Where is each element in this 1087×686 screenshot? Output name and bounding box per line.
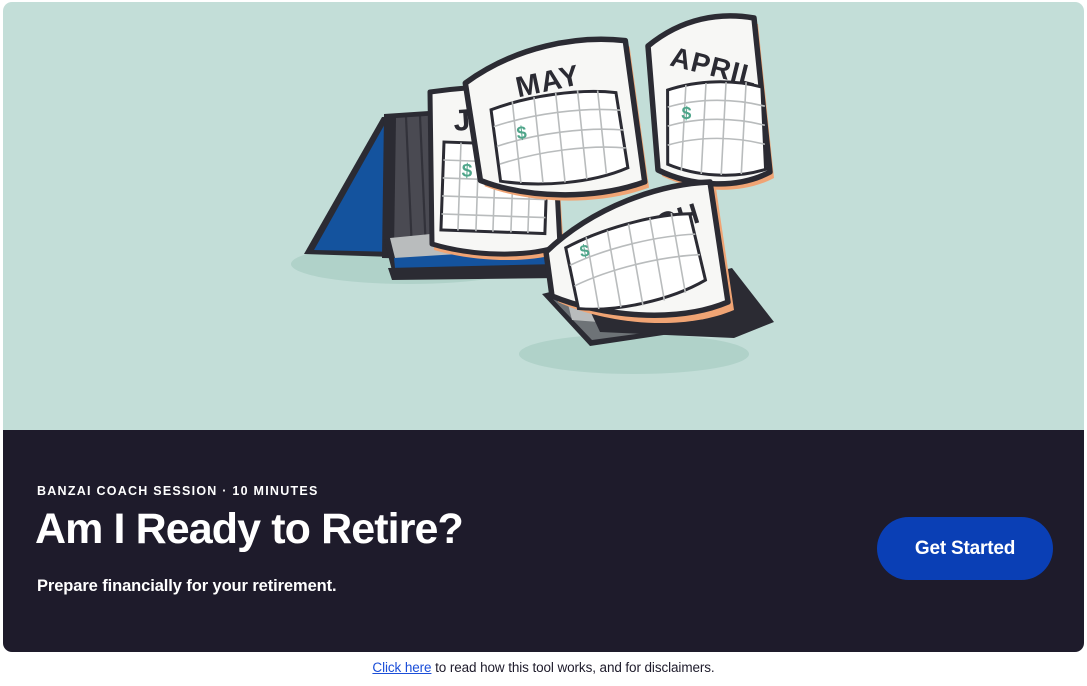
- svg-text:$: $: [515, 122, 527, 143]
- flying-calendar-pages-illustration: JUNE $: [234, 2, 854, 430]
- footer-disclaimer: Click here to read how this tool works, …: [0, 660, 1087, 675]
- disclaimer-text: to read how this tool works, and for dis…: [431, 660, 714, 675]
- tool-landing-page: JUNE $: [0, 0, 1087, 686]
- get-started-button[interactable]: Get Started: [877, 517, 1053, 580]
- session-eyebrow: BANZAI COACH SESSION · 10 MINUTES: [37, 484, 319, 498]
- calendar-march: MARCH $: [542, 182, 774, 346]
- svg-text:$: $: [680, 103, 691, 123]
- disclaimer-link[interactable]: Click here: [372, 660, 431, 675]
- calendar-may: MAY $: [463, 37, 649, 206]
- session-info-band: BANZAI COACH SESSION · 10 MINUTES Am I R…: [3, 430, 1084, 652]
- coach-session-card: JUNE $: [3, 2, 1084, 652]
- hero-illustration-panel: JUNE $: [3, 2, 1084, 430]
- calendar-april: APRIL $: [648, 16, 774, 190]
- page-title: Am I Ready to Retire?: [35, 505, 463, 554]
- page-subtitle: Prepare financially for your retirement.: [37, 577, 337, 596]
- session-info-content: BANZAI COACH SESSION · 10 MINUTES Am I R…: [37, 430, 1050, 652]
- svg-text:$: $: [461, 161, 473, 182]
